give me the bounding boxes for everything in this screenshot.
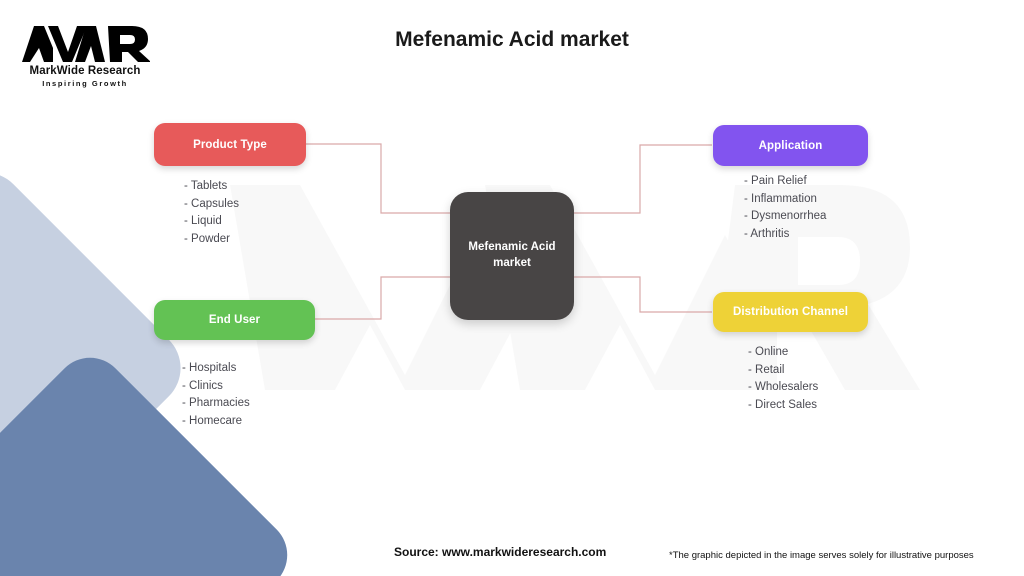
list-item: - Hospitals (182, 360, 250, 378)
list-item: - Powder (184, 231, 239, 249)
list-item: - Direct Sales (748, 397, 818, 415)
list-item: - Capsules (184, 196, 239, 214)
connector-application (572, 145, 712, 213)
footer-source: Source: www.markwideresearch.com (394, 545, 606, 559)
footer-disclaimer: *The graphic depicted in the image serve… (669, 550, 974, 561)
list-item: - Dysmenorrhea (744, 208, 826, 226)
list-item: - Wholesalers (748, 379, 818, 397)
category-items-end-user: - Hospitals - Clinics - Pharmacies - Hom… (182, 360, 250, 430)
center-node[interactable]: Mefenamic Acid market (450, 192, 574, 320)
category-box-product-type[interactable]: Product Type (154, 123, 306, 166)
category-items-application: - Pain Relief - Inflammation - Dysmenorr… (744, 173, 826, 243)
list-item: - Tablets (184, 178, 239, 196)
list-item: - Arthritis (744, 226, 826, 244)
category-items-product-type: - Tablets - Capsules - Liquid - Powder (184, 178, 239, 248)
category-label-end-user: End User (209, 314, 260, 326)
category-box-application[interactable]: Application (713, 125, 868, 166)
connector-distribution-channel (572, 277, 712, 312)
list-item: - Liquid (184, 213, 239, 231)
category-box-end-user[interactable]: End User (154, 300, 315, 340)
category-box-distribution-channel[interactable]: Distribution Channel (713, 292, 868, 332)
list-item: - Inflammation (744, 191, 826, 209)
list-item: - Retail (748, 362, 818, 380)
list-item: - Homecare (182, 413, 250, 431)
connector-product-type (306, 144, 452, 213)
center-node-label: Mefenamic Acid market (462, 240, 562, 271)
category-label-application: Application (759, 140, 823, 152)
category-label-product-type: Product Type (193, 139, 267, 151)
infographic-canvas: MarkWide Research Inspiring Growth Mefen… (0, 0, 1024, 576)
category-items-distribution-channel: - Online - Retail - Wholesalers - Direct… (748, 344, 818, 414)
list-item: - Pharmacies (182, 395, 250, 413)
list-item: - Clinics (182, 378, 250, 396)
list-item: - Online (748, 344, 818, 362)
category-label-distribution-channel: Distribution Channel (733, 306, 848, 318)
connector-end-user (315, 277, 452, 319)
list-item: - Pain Relief (744, 173, 826, 191)
